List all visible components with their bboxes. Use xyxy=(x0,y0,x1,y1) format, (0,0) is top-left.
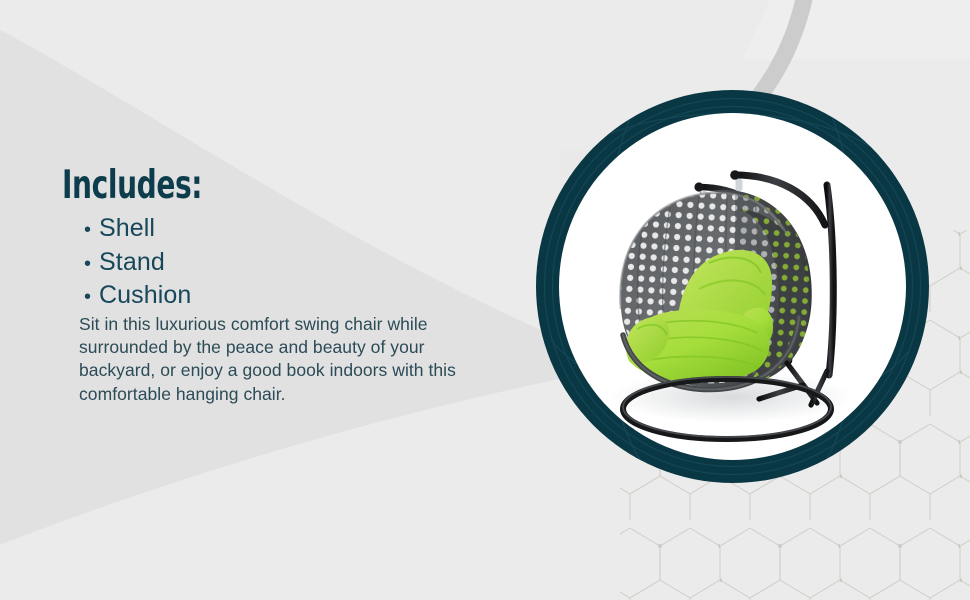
bullet-icon: • xyxy=(84,249,99,281)
product-image-badge xyxy=(536,90,929,483)
list-item-label: Stand xyxy=(99,247,165,279)
product-photo xyxy=(559,113,906,460)
page-title: Includes: xyxy=(62,166,202,205)
includes-list: • Shell • Stand • Cushion xyxy=(84,213,191,314)
description-paragraph: Sit in this luxurious comfort swing chai… xyxy=(79,313,504,406)
list-item-label: Shell xyxy=(99,213,155,245)
bullet-icon: • xyxy=(84,282,99,314)
list-item: • Stand xyxy=(84,247,191,281)
hanging-egg-chair-illustration xyxy=(559,113,906,460)
text-column: Includes: • Shell • Stand • Cushion Sit … xyxy=(0,0,530,600)
list-item-label: Cushion xyxy=(99,280,191,312)
list-item: • Shell xyxy=(84,213,191,247)
list-item: • Cushion xyxy=(84,280,191,314)
bullet-icon: • xyxy=(84,215,99,247)
infographic-banner: Includes: • Shell • Stand • Cushion Sit … xyxy=(0,0,970,600)
